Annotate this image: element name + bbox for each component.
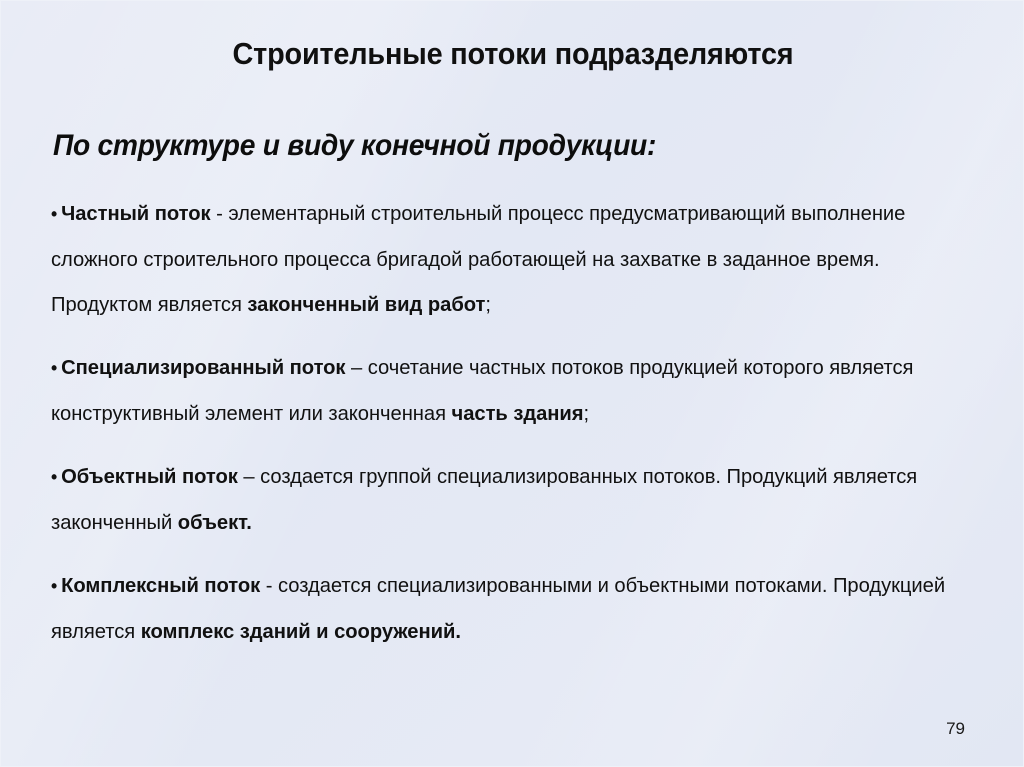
bullet-emphasis: законченный вид работ [247, 293, 485, 316]
list-item: •Объектный поток – создается группой спе… [51, 454, 938, 545]
bullet-emphasis: объект. [178, 511, 252, 534]
bullet-marker: • [51, 204, 61, 224]
list-item: •Частный поток - элементарный строительн… [51, 191, 938, 327]
bullet-marker: • [51, 467, 61, 487]
slide-content: Строительные потоки подразделяются По ст… [1, 1, 1023, 766]
bullet-list: •Частный поток - элементарный строительн… [51, 191, 991, 654]
bullet-marker: • [51, 576, 61, 596]
page-title: Строительные потоки подразделяются [37, 34, 989, 74]
bullet-body-after: ; [485, 293, 491, 316]
list-item: •Специализированный поток – сочетание ча… [51, 345, 967, 436]
bullet-body-after: ; [584, 402, 590, 425]
bullet-term: Комплексный поток [61, 574, 260, 597]
bullet-marker: • [51, 358, 61, 378]
bullet-term: Специализированный поток [61, 356, 345, 379]
list-item: •Комплексный поток - создается специализ… [51, 563, 967, 654]
bullet-emphasis: комплекс зданий и сооружений. [141, 620, 461, 643]
slide-subtitle: По структуре и виду конечной продукции: [53, 127, 656, 165]
bullet-term: Объектный поток [61, 465, 238, 488]
bullet-term: Частный поток [61, 202, 210, 225]
bullet-emphasis: часть здания [452, 402, 584, 425]
page-number: 79 [946, 719, 965, 739]
slide-canvas: Строительные потоки подразделяются По ст… [0, 0, 1024, 767]
